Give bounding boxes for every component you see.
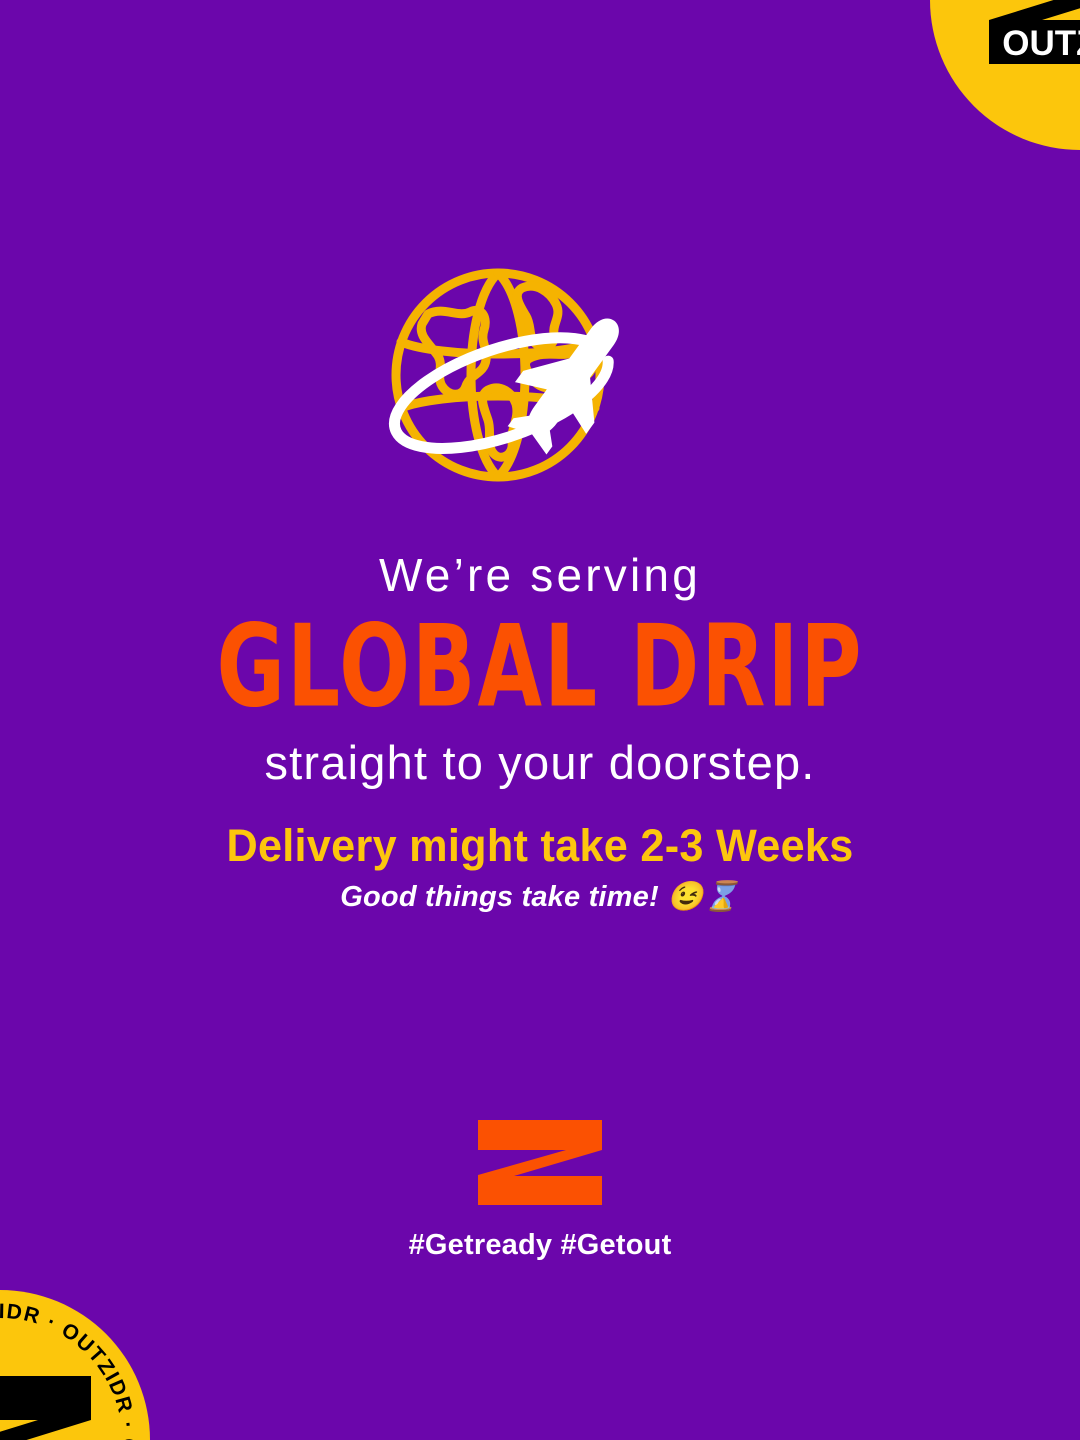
promo-poster: We’re serving GLOBAL DRIP straight to yo… <box>0 0 1080 1440</box>
delivery-subtext: Good things take time! 😉⌛ <box>0 880 1080 914</box>
headline-line-2-global-drip: GLOBAL DRIP <box>16 608 1064 727</box>
outzidr-z-logo <box>478 1120 602 1205</box>
footer-block: #Getready #Getout <box>0 1120 1080 1262</box>
badge-core-word-tr: OUTZIDR <box>989 26 1080 61</box>
headline-line-3: straight to your doorstep. <box>0 735 1080 791</box>
globe-with-airplane-icon <box>370 262 710 492</box>
delivery-notice: Delivery might take 2-3 Weeks <box>22 820 1059 872</box>
z-mark-icon <box>478 1120 602 1205</box>
outzidr-badge-bottom-left: OUTZIDR · OUTZIDR · OUTZIDR · OUTZIDR · … <box>0 1290 150 1440</box>
z-mark-icon <box>0 1376 91 1440</box>
footer-tagline: #Getready #Getout <box>0 1229 1080 1262</box>
hero-illustration <box>0 262 1080 492</box>
outzidr-badge-top-right: OUTZIDR · OUTZIDR · OUTZIDR · OUTZIDR · … <box>930 0 1080 150</box>
headline-block: We’re serving GLOBAL DRIP straight to yo… <box>0 548 1080 791</box>
headline-line-1: We’re serving <box>0 548 1080 602</box>
badge-core-logo-tr: OUTZIDR <box>989 0 1080 64</box>
badge-core-logo-bl: OUTZIDR <box>0 1376 91 1440</box>
